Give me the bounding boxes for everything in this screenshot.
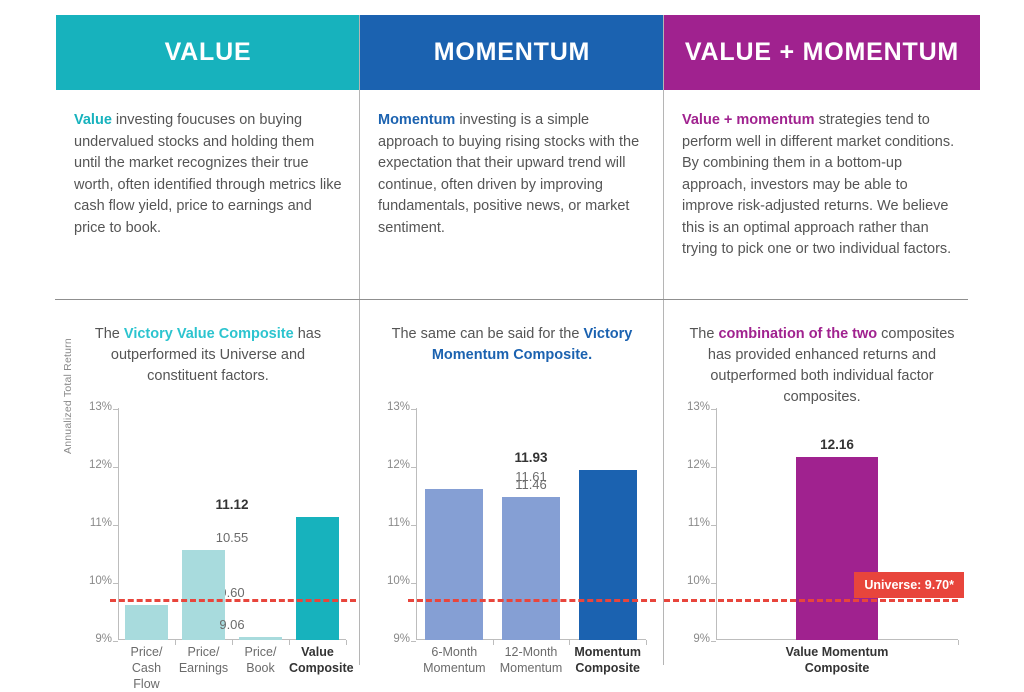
bar [239,637,282,640]
description-value-momentum-wrap: Value + momentum strategies tend to perf… [664,90,980,300]
y-tick-label: 11% [90,517,112,529]
chart-value-momentum: 9%10%11%12%13% 12.16 Universe: 9.70* Val… [664,396,980,675]
x-axis-label-line: Momentum [416,660,493,676]
column-value: VALUE Value investing foucuses on buying… [56,15,360,675]
y-tick-label: 11% [388,517,410,529]
x-axis-label-line: Composite [289,660,346,676]
x-axis-label-line: Price/ [232,644,289,660]
bar-slot [118,408,175,640]
x-axis-label: ValueComposite [289,644,346,676]
bar-value-label: 12.16 [796,437,878,452]
description-value-momentum-body: strategies tend to perform well in diffe… [682,112,954,257]
banner-momentum-label: MOMENTUM [434,38,590,67]
column-momentum: MOMENTUM Momentum investing is a simple … [360,15,664,675]
y-tick-label: 12% [687,459,710,471]
bar [502,497,560,640]
y-tick-mark [113,641,118,642]
infographic-page: VALUE Value investing foucuses on buying… [0,0,1024,686]
bar-slot [232,408,289,640]
y-tick-mark [711,641,716,642]
description-value-body: investing foucuses on buying undervalued… [74,112,342,236]
y-tick-label: 10% [89,575,112,587]
x-axis-label: Value MomentumComposite [716,644,958,676]
x-axis-label-line: Earnings [175,660,232,676]
bar [425,489,483,640]
bar-slot [289,408,346,640]
x-axis-label: Price/Earnings [175,644,232,676]
description-momentum: Momentum investing is a simple approach … [378,110,646,239]
chart-vm-bars: 12.16 [716,408,958,640]
chart-vm-universe-line [664,599,958,602]
x-axis-label-line: Price/ [118,644,175,660]
chart-value-bars: 9.6010.559.0611.12 [118,408,346,640]
caption-vm-pre: The [689,326,718,342]
x-axis-label: 6-MonthMomentum [416,644,493,676]
caption-value-highlight: Victory Value Composite [124,326,294,342]
y-tick-label: 9% [693,633,710,645]
x-tick-mark [958,640,959,645]
banner-value: VALUE [56,15,360,90]
chart-value-plot: 9%10%11%12%13% 9.6010.559.0611.12 [118,408,346,640]
description-value-wrap: Value investing foucuses on buying under… [56,90,360,300]
y-tick-label: 9% [393,633,410,645]
bar-value-label: 11.12 [118,497,346,512]
caption-value-momentum: The combination of the two composites ha… [664,300,980,396]
bar-slot [175,408,232,640]
x-axis-label-line: 12-Month [493,644,570,660]
three-column-grid: VALUE Value investing foucuses on buying… [56,15,980,675]
caption-value: The Victory Value Composite has outperfo… [56,300,360,396]
bar [296,517,339,640]
y-tick-label: 13% [687,401,710,413]
y-tick-label: 9% [95,633,112,645]
banner-value-momentum-label: VALUE + MOMENTUM [685,38,959,67]
caption-momentum-pre: The same can be said for the [392,326,584,342]
x-axis-label-line: Value [289,644,346,660]
y-tick-mark [411,641,416,642]
y-tick: 9% [416,640,646,641]
caption-momentum: The same can be said for the Victory Mom… [360,300,664,396]
y-tick: 9% [716,640,958,641]
bar-slot [493,408,570,640]
x-axis-label-line: Momentum [569,644,646,660]
column-value-momentum: VALUE + MOMENTUM Value + momentum strate… [664,15,980,675]
banner-value-label: VALUE [165,38,252,67]
description-value-keyword: Value [74,112,112,128]
x-axis-label-line: Cash Flow [118,660,175,692]
bar-slot [416,408,493,640]
caption-value-pre: The [95,326,124,342]
caption-vm-highlight: combination of the two [718,326,877,342]
x-axis-label: 12-MonthMomentum [493,644,570,676]
x-axis-label-line: Composite [569,660,646,676]
chart-vm-plot: 9%10%11%12%13% 12.16 Universe: 9.70* [716,408,958,640]
chart-momentum-xlabels: 6-MonthMomentum12-MonthMomentumMomentumC… [416,644,646,684]
x-axis-label-line: 6-Month [416,644,493,660]
banner-value-momentum: VALUE + MOMENTUM [664,15,980,90]
y-tick-label: 11% [688,517,710,529]
chart-momentum-plot: 9%10%11%12%13% 11.6111.4611.93 [416,408,646,640]
bar-slot [569,408,646,640]
y-tick-label: 12% [387,459,410,471]
description-value: Value investing foucuses on buying under… [74,110,342,239]
chart-value: Annualized Total Return 9%10%11%12%13% 9… [56,396,360,675]
x-axis-label-line: Price/ [175,644,232,660]
x-axis-label-line: Composite [716,660,958,676]
chart-value-xlabels: Price/Cash FlowPrice/EarningsPrice/BookV… [118,644,346,684]
description-momentum-keyword: Momentum [378,112,455,128]
x-axis-label: MomentumComposite [569,644,646,676]
chart-value-universe-line [110,599,356,602]
bar [796,457,878,640]
y-tick-label: 10% [687,575,710,587]
y-tick-label: 13% [387,401,410,413]
y-tick-label: 10% [387,575,410,587]
banner-momentum: MOMENTUM [360,15,664,90]
description-value-momentum: Value + momentum strategies tend to perf… [682,110,962,261]
chart-momentum-bars: 11.6111.4611.93 [416,408,646,640]
bar [579,470,637,640]
y-tick-label: 12% [89,459,112,471]
bar-value-label: 11.93 [416,450,646,465]
description-momentum-body: investing is a simple approach to buying… [378,112,639,236]
chart-value-ylabel: Annualized Total Return [62,338,74,454]
chart-momentum-universe-line [408,599,656,602]
x-tick-mark [346,640,347,645]
chart-vm-xlabels: Value MomentumComposite [716,644,958,684]
x-tick-mark [646,640,647,645]
x-axis-label: Price/Book [232,644,289,676]
x-axis-label-line: Momentum [493,660,570,676]
y-tick-label: 13% [89,401,112,413]
x-axis-label-line: Book [232,660,289,676]
description-momentum-wrap: Momentum investing is a simple approach … [360,90,664,300]
universe-badge: Universe: 9.70* [854,572,964,598]
chart-momentum: 9%10%11%12%13% 11.6111.4611.93 6-MonthMo… [360,396,664,675]
x-axis-label: Price/Cash Flow [118,644,175,692]
description-value-momentum-keyword: Value + momentum [682,112,815,128]
x-axis-label-line: Value Momentum [716,644,958,660]
